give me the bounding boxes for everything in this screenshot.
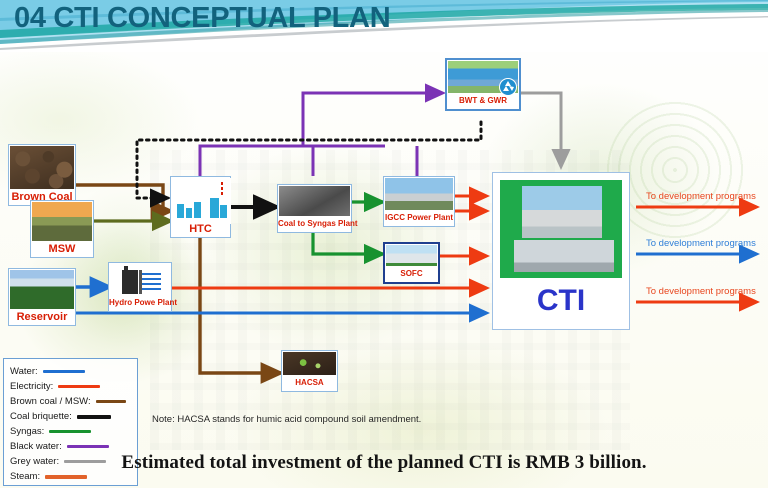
legend-swatch-syngas bbox=[49, 430, 91, 433]
legend-item: Coal briquette: bbox=[10, 409, 137, 424]
dam-icon-svg bbox=[110, 264, 172, 298]
page-title: 04 CTI CONCEPTUAL PLAN bbox=[14, 2, 390, 35]
factory-icon bbox=[172, 178, 231, 224]
dam-icon bbox=[109, 263, 171, 296]
legend-swatch-black-water bbox=[67, 445, 109, 448]
legend-swatch-coal-briquette bbox=[77, 415, 111, 419]
legend-item: Brown coal / MSW: bbox=[10, 394, 137, 409]
cti-plant-photo bbox=[522, 186, 602, 238]
node-label-coal-to-syngas-plant: Coal to Syngas Plant bbox=[278, 217, 351, 231]
legend-label-black-water: Black water: bbox=[10, 441, 62, 452]
node-reservoir[interactable]: Reservoir bbox=[8, 268, 76, 326]
legend-item: Electricity: bbox=[10, 379, 137, 394]
reservoir-thumbnail bbox=[9, 269, 75, 310]
bwt-gwr-thumbnail bbox=[447, 60, 519, 94]
node-label-reservoir: Reservoir bbox=[9, 310, 75, 324]
node-hacsa[interactable]: HACSA bbox=[281, 350, 338, 392]
node-label-hydro-power-plant: Hydro Powe Plant bbox=[109, 296, 171, 310]
output-label-3: To development programs bbox=[646, 286, 756, 297]
slide: 04 CTI CONCEPTUAL PLAN bbox=[0, 0, 768, 488]
output-label-1: To development programs bbox=[646, 191, 756, 202]
legend-label-coal-briquette: Coal briquette: bbox=[10, 411, 72, 422]
footer-statement: Estimated total investment of the planne… bbox=[0, 452, 768, 474]
legend-label-water: Water: bbox=[10, 366, 38, 377]
legend-item: Water: bbox=[10, 364, 137, 379]
note-text: Note: HACSA stands for humic acid compou… bbox=[152, 414, 421, 425]
legend-swatch-water bbox=[43, 370, 85, 373]
legend-label-syngas: Syngas: bbox=[10, 426, 44, 437]
cti-equipment-photo bbox=[514, 240, 614, 272]
legend-item: Syngas: bbox=[10, 424, 137, 439]
recycle-icon bbox=[448, 61, 520, 97]
htc-thumbnail bbox=[171, 177, 230, 222]
node-label-msw: MSW bbox=[31, 242, 93, 256]
node-hydro-power-plant[interactable]: Hydro Powe Plant bbox=[108, 262, 172, 312]
coal-to-syngas-thumbnail bbox=[278, 185, 351, 217]
igcc-thumbnail bbox=[384, 177, 454, 211]
node-bwt-gwr[interactable]: BWT & GWR bbox=[445, 58, 521, 111]
node-label-hacsa: HACSA bbox=[282, 376, 337, 390]
node-label-bwt-gwr: BWT & GWR bbox=[447, 94, 519, 108]
msw-thumbnail bbox=[31, 201, 93, 242]
node-sofc[interactable]: SOFC bbox=[383, 242, 440, 284]
output-label-2: To development programs bbox=[646, 238, 756, 249]
hacsa-thumbnail bbox=[282, 351, 337, 376]
node-cti[interactable]: CTI bbox=[492, 172, 630, 330]
legend-label-brown-coal-msw: Brown coal / MSW: bbox=[10, 396, 91, 407]
node-label-cti: CTI bbox=[493, 278, 629, 324]
node-label-sofc: SOFC bbox=[385, 267, 438, 281]
sofc-thumbnail bbox=[385, 244, 438, 267]
legend-swatch-electricity bbox=[58, 385, 100, 388]
cti-image-panel bbox=[500, 180, 622, 278]
legend-swatch-brown-coal-msw bbox=[96, 400, 126, 403]
node-label-htc: HTC bbox=[171, 222, 230, 236]
node-htc[interactable]: HTC bbox=[170, 176, 231, 238]
node-label-igcc-power-plant: IGCC Power Plant bbox=[384, 211, 454, 225]
node-msw[interactable]: MSW bbox=[30, 200, 94, 258]
legend-label-electricity: Electricity: bbox=[10, 381, 53, 392]
node-igcc-power-plant[interactable]: IGCC Power Plant bbox=[383, 176, 455, 227]
legend-swatch-steam bbox=[45, 475, 87, 479]
node-coal-to-syngas-plant[interactable]: Coal to Syngas Plant bbox=[277, 184, 352, 233]
node-brown-coal[interactable]: Brown Coal bbox=[8, 144, 76, 206]
brown-coal-thumbnail bbox=[9, 145, 75, 190]
